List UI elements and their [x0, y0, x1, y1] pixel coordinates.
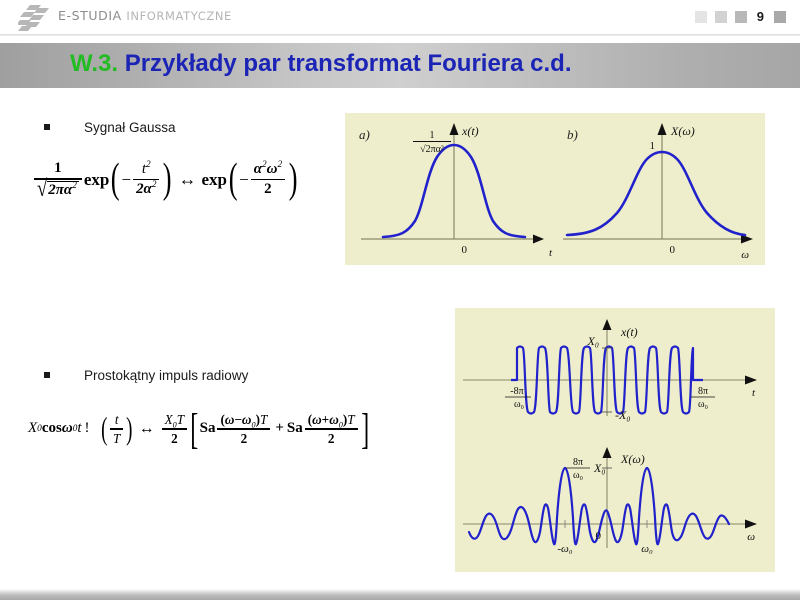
radio-left-peak-label: -ω₀ [557, 543, 572, 555]
variable-omega: ω [267, 161, 278, 177]
slide-footer-bar [0, 589, 800, 600]
radio-sa-right: Sa [287, 420, 303, 437]
bullet-item-impuls-radiowy: Prostokątny impuls radiowy [44, 368, 248, 383]
radio-cos: cos [42, 420, 62, 437]
paren-close-rect: ) [126, 418, 132, 441]
radio-sa-left-fraction: (ω−ω0)T 2 [217, 412, 270, 446]
gauss-left-numerator: t2 [139, 161, 154, 178]
fraction-bar [217, 428, 270, 429]
radio-top-negamp-label: -X₀ [615, 408, 631, 422]
brand-name-secondary: INFORMATYCZNE [126, 9, 232, 23]
decor-square-3 [735, 11, 747, 23]
radio-left-bound-numerator: -8π [510, 386, 523, 397]
formula-gauss: 1 √2πα2 exp ( − t2 2α2 ) ↔ exp ( − α2ω2 … [32, 160, 299, 199]
fraction-bar [251, 179, 285, 180]
radio-sa-left: Sa [200, 420, 216, 437]
omega-exponent: 2 [277, 160, 282, 170]
formula-radio-pulse: X0 cosω0t ! ( t T ) ↔ X0T 2 [ Sa (ω−ω0)T… [28, 412, 370, 446]
radio-X: X [165, 412, 173, 427]
slide-header: E-STUDIA INFORMATYCZNE 9 [0, 0, 800, 36]
gauss-left-denominator: 2α2 [133, 181, 159, 198]
paren-open-rect: ( [101, 418, 107, 441]
panel-a-peak-numerator: 1 [430, 130, 435, 141]
radio-sa-left-denominator: 2 [238, 431, 251, 446]
t-exponent: 2 [146, 160, 151, 170]
radio-peak-tail: X₀ [593, 461, 606, 475]
fraction-bar [305, 428, 358, 429]
paren-close-left: ) [163, 164, 172, 195]
radio-sa-right-denominator: 2 [325, 431, 338, 446]
variable-alpha: α [254, 161, 262, 177]
radio-top-amp-label: X₀ [586, 334, 599, 348]
bullet-label: Sygnał Gaussa [84, 120, 176, 135]
stacked-tiles-logo-icon [18, 4, 52, 32]
panel-a-peak-denominator: √2πα² [420, 144, 444, 155]
radio-sa-right-numerator: (ω+ω0)T [305, 412, 358, 427]
panel-a-origin-label: 0 [462, 244, 468, 256]
figure-radio-pulse-transform-pair: X₀ -X₀ x(t) t -8π ω₀ 8π ω₀ 8π ω₀ X₀ [455, 308, 775, 572]
header-divider [0, 34, 800, 36]
fraction-bar [162, 428, 188, 429]
panel-b-tag: b) [567, 127, 578, 142]
decor-square-4 [774, 11, 786, 23]
figure-radio-svg: X₀ -X₀ x(t) t -8π ω₀ 8π ω₀ 8π ω₀ X₀ [455, 308, 775, 572]
brand-name-primary: E-STUDIA [58, 8, 122, 23]
radio-right-peak-label: ω₀ [641, 543, 653, 555]
gauss-exp-keyword-right: exp [201, 170, 227, 190]
paren-close-right: ) [289, 164, 298, 195]
decor-square-2 [715, 11, 727, 23]
radio-rect-numerator: t [112, 412, 122, 427]
formula-gauss-prefactor: 1 √2πα2 [34, 160, 82, 199]
sqrt-radical-icon: √ [37, 178, 47, 201]
sqrt-radicand-exponent: 2 [72, 181, 77, 191]
fraction-bar [110, 428, 123, 429]
panel-b-x-axis-label: ω [741, 249, 749, 261]
radio-right-bound-numerator: 8π [698, 386, 708, 397]
sqrt-radicand: 2πα [48, 182, 72, 198]
radio-top-y-axis-label: x(t) [620, 325, 638, 339]
gauss-right-minus: − [239, 170, 249, 190]
radio-omega: ω [225, 412, 235, 427]
radio-omega: ω [329, 412, 339, 427]
radio-sa-right-fraction: (ω+ω0)T 2 [305, 412, 358, 446]
radio-bang: ! [85, 420, 90, 437]
figure-gaussian-transform-pair: a) 0 t x(t) 1 √2πα² b) 0 ω X(ω) 1 [345, 113, 765, 265]
gauss-right-numerator: α2ω2 [251, 161, 285, 178]
paren-open-left: ( [111, 164, 120, 195]
radio-rect-fraction: t T [110, 412, 123, 446]
two-alpha: 2α [136, 181, 152, 197]
gauss-right-fraction: α2ω2 2 [251, 161, 285, 199]
gauss-prefactor-numerator: 1 [51, 160, 64, 177]
radio-peak-numerator: 8π [573, 457, 583, 468]
equivalence-arrow-icon: ↔ [139, 420, 155, 438]
radio-T: T [347, 412, 354, 427]
bracket-open: [ [190, 415, 198, 444]
page-number: 9 [755, 11, 766, 23]
brand-text: E-STUDIA INFORMATYCZNE [58, 8, 232, 23]
radio-t: t [77, 420, 81, 437]
title-prefix: W.3. [70, 50, 118, 77]
panel-a-tag: a) [359, 127, 370, 142]
title-main: Przykłady par transformat Fouriera c.d. [125, 50, 572, 77]
radio-amplitude-fraction: X0T 2 [162, 412, 188, 446]
radio-omega: ω [62, 420, 73, 437]
radio-minus: − [234, 412, 242, 427]
gauss-right-denominator: 2 [261, 181, 274, 198]
radio-plus-operator: + [275, 420, 284, 437]
bullet-square-icon [44, 372, 50, 378]
radio-peak-denominator: ω₀ [573, 470, 584, 481]
figure-background [345, 113, 765, 265]
panel-b-y-axis-label: X(ω) [670, 124, 695, 138]
radio-omega: ω [312, 412, 322, 427]
radio-sa-left-numerator: (ω−ω0)T [217, 412, 270, 427]
radio-amp-numerator: X0T [162, 412, 188, 427]
figure-gaussian-svg: a) 0 t x(t) 1 √2πα² b) 0 ω X(ω) 1 [345, 113, 765, 265]
panel-b-peak-label: 1 [650, 140, 656, 152]
alpha-exponent: 2 [152, 180, 157, 190]
paren-open-right: ( [229, 164, 238, 195]
radio-rect-denominator: T [110, 431, 123, 446]
gauss-exp-keyword-left: exp [84, 170, 110, 190]
header-decoration-squares: 9 [695, 11, 786, 23]
panel-b-origin-label: 0 [670, 244, 676, 256]
radio-bottom-origin-label: 0 [596, 530, 602, 542]
gauss-left-minus: − [121, 170, 131, 190]
equivalence-arrow-icon: ↔ [179, 169, 197, 190]
radio-amp-denominator: 2 [168, 431, 181, 446]
figure-background [455, 308, 775, 572]
bullet-square-icon [44, 124, 50, 130]
radio-left-bound-denominator: ω₀ [514, 399, 525, 410]
decor-square-1 [695, 11, 707, 23]
radio-bottom-x-axis-label: ω [747, 531, 755, 543]
radio-X: X [28, 420, 37, 437]
gauss-left-fraction: t2 2α2 [133, 161, 159, 199]
bracket-close: ] [361, 415, 369, 444]
bullet-label: Prostokątny impuls radiowy [84, 368, 248, 383]
panel-a-y-axis-label: x(t) [461, 124, 479, 138]
radio-right-bound-denominator: ω₀ [698, 399, 709, 410]
page-title: W.3. Przykłady par transformat Fouriera … [70, 50, 572, 78]
radio-T: T [260, 412, 267, 427]
radio-bottom-y-axis-label: X(ω) [620, 452, 645, 466]
bullet-item-sygnal-gaussa: Sygnał Gaussa [44, 120, 176, 135]
radio-T: T [177, 412, 184, 427]
gauss-prefactor-denominator: √2πα2 [34, 181, 82, 200]
